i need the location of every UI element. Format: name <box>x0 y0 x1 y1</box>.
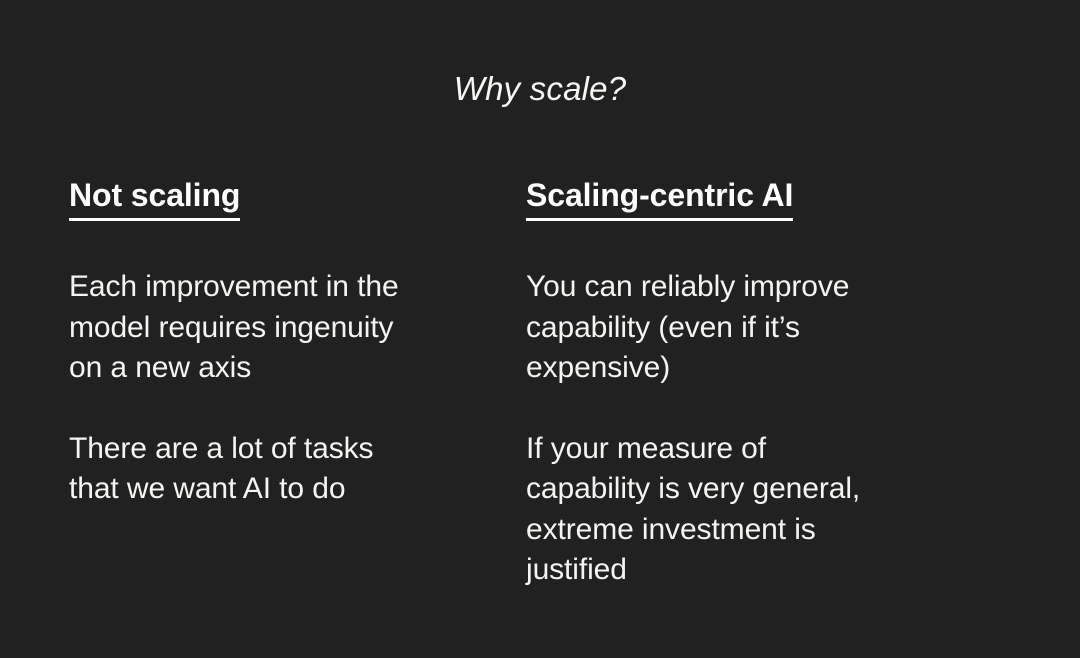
slide-title: Why scale? <box>0 68 1080 110</box>
column-scaling-centric-ai: Scaling-centric AI You can reliably impr… <box>513 176 1080 591</box>
column-paragraph: There are a lot of tasks that we want AI… <box>69 429 493 510</box>
column-paragraph: You can reliably improve capability (eve… <box>526 267 1052 389</box>
two-column-comparison: Not scaling Each improvement in the mode… <box>0 176 1080 591</box>
column-paragraph: If your measure of capability is very ge… <box>526 429 1052 591</box>
slide-root: Why scale? Not scaling Each improvement … <box>0 0 1080 658</box>
column-paragraph: Each improvement in the model requires i… <box>69 267 493 389</box>
column-not-scaling: Not scaling Each improvement in the mode… <box>0 176 513 510</box>
column-heading-not-scaling: Not scaling <box>69 176 240 221</box>
column-heading-scaling-centric-ai: Scaling-centric AI <box>526 176 793 221</box>
